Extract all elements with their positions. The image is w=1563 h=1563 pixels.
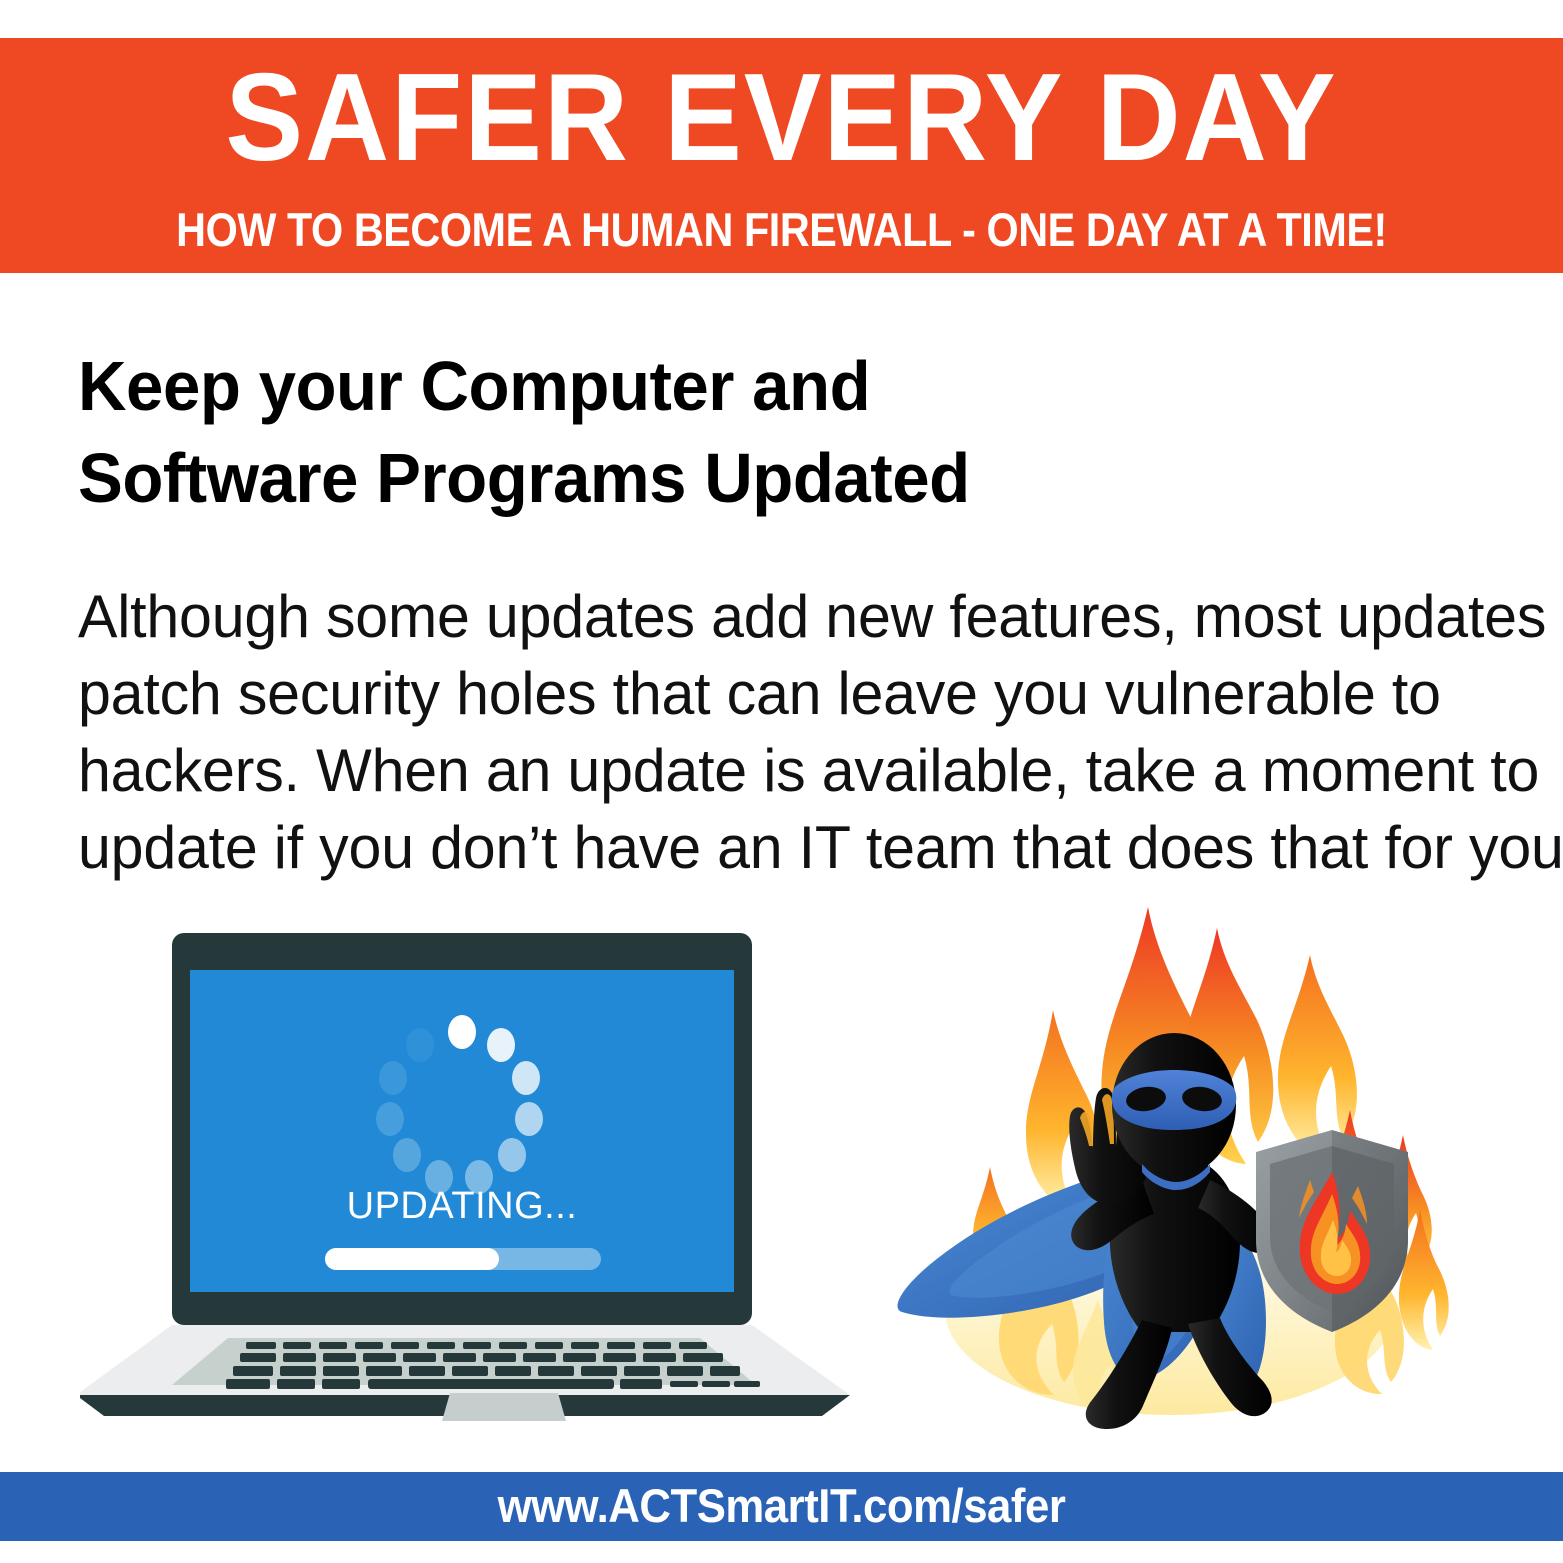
progress-bar [325, 1248, 601, 1270]
paragraph-line-2: patch security holes that can leave you … [78, 655, 1477, 732]
paragraph-line-3: hackers. When an update is available, ta… [78, 732, 1477, 809]
header-banner: SAFER EVERY DAY HOW TO BECOME A HUMAN FI… [0, 38, 1563, 273]
laptop-svg: UPDATING... [80, 900, 870, 1430]
poster-canvas: SAFER EVERY DAY HOW TO BECOME A HUMAN FI… [0, 0, 1563, 1563]
superhero-mask-icon [1112, 1070, 1237, 1130]
progress-fill [325, 1248, 499, 1270]
body-paragraph: Although some updates add new features, … [78, 578, 1477, 886]
paragraph-line-4: update if you don’t have an IT team that… [78, 809, 1477, 886]
poster-title: SAFER EVERY DAY [47, 56, 1516, 180]
poster-subtitle: HOW TO BECOME A HUMAN FIREWALL - ONE DAY… [94, 204, 1469, 256]
headline-line-2: Software Programs Updated [78, 432, 1326, 524]
laptop-illustration: UPDATING... [80, 900, 870, 1430]
footer-banner: www.ACTSmartIT.com/safer [0, 1472, 1563, 1541]
hero-svg [880, 880, 1450, 1450]
updating-label: UPDATING... [347, 1185, 578, 1227]
laptop-trackpad [442, 1393, 566, 1421]
paragraph-line-1: Although some updates add new features, … [78, 578, 1477, 655]
page-headline: Keep your Computer and Software Programs… [78, 340, 1326, 524]
headline-line-1: Keep your Computer and [78, 340, 1326, 432]
footer-website-url[interactable]: www.ACTSmartIT.com/safer [55, 1478, 1509, 1534]
human-firewall-hero-illustration [880, 880, 1450, 1450]
